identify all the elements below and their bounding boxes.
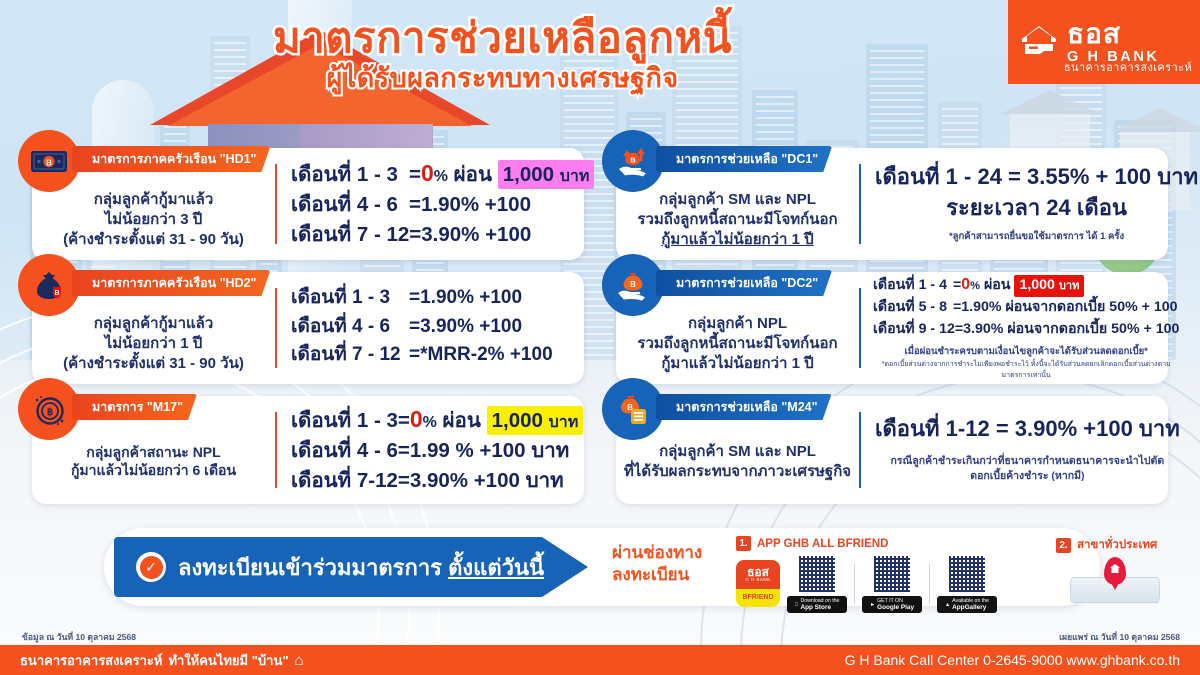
channel-number-2: 2. [1056,538,1071,553]
home-icon: ⌂ [295,652,304,669]
infographic-page: ธอส G H BANK ธนาคารอาคารสงเคราะห์ มาตรกา… [0,0,1200,675]
qr-code-appgallery[interactable] [947,554,987,594]
table-row: เดือนที่ 1 - 3 = 0 % ผ่อน 1,000 บาท [291,403,583,436]
svg-text:B: B [630,280,636,289]
check-circle-icon: ✓ [136,552,166,582]
divider [854,564,855,604]
banknote-icon: B [30,148,68,174]
map-pin-branch-icon [1070,557,1160,603]
hand-money-up-icon: B [615,143,651,179]
card-rate-rows-hd2: เดือนที่ 1 - 3 = 1.90% +100 เดือนที่ 4 -… [291,284,576,370]
measure-card-m17[interactable]: ฿ มาตรการ "M17" กลุ่มลูกค้าสถานะ NPL กู้… [32,396,584,504]
svg-text:฿: ฿ [47,407,53,418]
badge-circle-hd2: B [18,254,80,316]
registration-banner: ✓ ลงทะเบียนเข้าร่วมมาตรการ ตั้งแต่วันนี้… [104,528,1100,606]
badge-circle-m24: B [602,378,664,440]
measure-card-dc2[interactable]: B มาตรการช่วยเหลือ "DC2" กลุ่มลูกค้า NPL… [616,272,1168,384]
hand-money-bag-icon: B [616,268,650,302]
table-row: เดือนที่ 4 - 6 = 1.90% +100 [291,190,594,220]
card-divider [859,412,861,488]
badge-circle-dc1: B [602,130,664,192]
card-divider [859,164,861,244]
table-row: เดือนที่ 7 - 12 = *MRR-2% +100 [291,341,576,370]
googleplay-badge[interactable]: ► GET IT ONGoogle Play [862,596,922,613]
page-footer: ธนาคารอาคารสงเคราะห์ ทำให้คนไทยมี "บ้าน"… [0,645,1200,675]
card-pill-dc2: มาตรการช่วยเหลือ "DC2" [656,270,832,296]
logo-subtitle: ธนาคารอาคารสงเคราะห์ [1064,58,1192,76]
appstore-badge[interactable]:  Download on theApp Store [787,596,847,613]
table-row: เดือนที่ 1 - 3 = 1.90% +100 [291,284,576,313]
ghbank-logo: ธอส G H BANK ธนาคารอาคารสงเคราะห์ [1008,0,1200,84]
card-divider [859,288,861,368]
channel-label: ผ่านช่องทาง ลงทะเบียน [612,542,702,586]
card-pill-m24: มาตรการช่วยเหลือ "M24" [656,394,832,420]
table-row: เดือนที่ 1 - 4 = 0 % ผ่อน 1,000 บาท [873,273,1179,297]
card-note: *ลูกค้าสามารถยื่นขอใช้มาตรการ ได้ 1 ครั้… [875,230,1198,244]
data-as-of-note: ข้อมูล ณ วันที่ 10 ตุลาคม 2568 [22,630,136,644]
card-note: กรณีลูกค้าชำระเกินกว่าที่ธนาคารกำหนดธนาค… [875,454,1180,484]
channel-number-1: 1. [736,536,751,551]
footer-call-center: G H Bank Call Center 0-2645-9000 www.ghb… [845,652,1180,668]
measure-card-dc1[interactable]: B มาตรการช่วยเหลือ "DC1" กลุ่มลูกค้า SM … [616,148,1168,260]
badge-circle-m17: ฿ [18,378,80,440]
card-description-hd2: กลุ่มลูกค้ากู้มาแล้ว ไม่น้อยกว่า 1 ปี (ค… [63,314,244,374]
table-row: เดือนที่ 4 - 6 = 1.99 % +100 บาท [291,436,583,466]
qr-appstore-group[interactable]:  Download on theApp Store [787,554,847,613]
card-divider [275,288,277,368]
table-row: เดือนที่ 9 - 12 = 3.90% ผ่อนจากดอกเบี้ย … [873,319,1179,341]
appgallery-badge[interactable]: ▲ Available on theAppGallery [937,596,997,613]
measure-card-hd1[interactable]: B มาตรการภาคครัวเรือน "HD1" กลุ่มลูกค้าก… [32,148,584,260]
page-title: มาตรการช่วยเหลือลูกหนี้ [0,16,1005,60]
logo-thai-text: ธอส [1067,20,1160,48]
qr-appgallery-group[interactable]: ▲ Available on theAppGallery [937,554,997,613]
table-row: เดือนที่ 7 - 12 = 3.90% +100 [291,220,594,250]
ghb-all-bfriend-app-icon[interactable]: ธอส G H BANK BFRIEND [736,560,780,607]
highlight-chip: 1,000 บาท [498,160,595,190]
card-description-dc1: กลุ่มลูกค้า SM และ NPL รวมถึงลูกหนี้สถาน… [637,190,837,250]
channel-app: 1. APP GHB ALL BFRIEND ธอส G H BANK BFRI… [736,536,1036,613]
register-cta-arrow[interactable]: ✓ ลงทะเบียนเข้าร่วมมาตรการ ตั้งแต่วันนี้ [114,537,588,597]
card-description-dc2: กลุ่มลูกค้า NPL รวมถึงลูกหนี้สถานะมีโจทก… [637,314,837,374]
table-row: เดือนที่ 5 - 8 = 1.90% ผ่อนจากดอกเบี้ย 5… [873,297,1179,319]
measure-card-hd2[interactable]: B มาตรการภาคครัวเรือน "HD2" กลุ่มลูกค้าก… [32,272,584,384]
channel-title-1: APP GHB ALL BFRIEND [757,538,888,550]
svg-text:B: B [630,156,636,165]
card-pill-hd2: มาตรการภาคครัวเรือน "HD2" [72,270,270,296]
card-pill-m17: มาตรการ "M17" [72,394,197,420]
card-rate-rows-hd1: เดือนที่ 1 - 3 = 0 % ผ่อน 1,000 บาท เดือ… [291,157,594,250]
table-row: เดือนที่ 1 - 3 = 0 % ผ่อน 1,000 บาท [291,157,594,190]
card-rate-lines-dc1: เดือนที่ 1 - 24 = 3.55% + 100 บาท ระยะเว… [875,162,1198,244]
table-row: เดือนที่ 7-12 = 3.90% +100 บาท [291,466,583,496]
table-row: เดือนที่ 4 - 6 = 3.90% +100 [291,313,576,342]
google-play-icon: ► [870,602,875,608]
badge-circle-hd1: B [18,130,80,192]
money-bag-shield-icon: B [32,268,66,302]
page-subtitle: ผู้ได้รับผลกระทบทางเศรษฐกิจ [0,64,1005,94]
svg-text:B: B [54,290,59,297]
money-bag-book-icon: B [616,392,650,426]
card-description-m24: กลุ่มลูกค้า SM และ NPL ที่ได้รับผลกระทบจ… [624,442,851,482]
footer-tagline: ธนาคารอาคารสงเคราะห์ ทำให้คนไทยมี "บ้าน"… [20,650,304,671]
coins-icon: ฿ [31,392,67,426]
divider [929,564,930,604]
card-description-m17: กลุ่มลูกค้าสถานะ NPL กู้มาแล้วไม่น้อยกว่… [71,443,236,480]
card-rate-lines-m24: เดือนที่ 1-12 = 3.90% +100 บาท กรณีลูกค้… [875,414,1180,484]
qr-code-googleplay[interactable] [872,554,912,594]
header-titles: มาตรการช่วยเหลือลูกหนี้ ผู้ได้รับผลกระทบ… [0,16,1005,93]
card-note: เมื่อผ่อนชำระครบตามเงื่อนไขลูกค้าจะได้รั… [873,345,1179,359]
card-divider [275,412,277,488]
badge-circle-dc2: B [602,254,664,316]
card-rate-rows-dc2: เดือนที่ 1 - 4 = 0 % ผ่อน 1,000 บาท เดือ… [873,273,1179,380]
register-cta-text: ลงทะเบียนเข้าร่วมมาตรการ ตั้งแต่วันนี้ [178,550,544,585]
measure-card-m24[interactable]: B มาตรการช่วยเหลือ "M24" กลุ่มลูกค้า SM … [616,396,1168,504]
card-divider [275,164,277,244]
qr-code-appstore[interactable] [797,554,837,594]
highlight-chip: 1,000 บาท [487,406,584,436]
channel-title-2: สาขาทั่วประเทศ [1077,536,1157,554]
appgallery-icon: ▲ [945,602,950,608]
card-pill-dc1: มาตรการช่วยเหลือ "DC1" [656,146,832,172]
card-rate-rows-m17: เดือนที่ 1 - 3 = 0 % ผ่อน 1,000 บาท เดือ… [291,403,583,496]
highlight-chip: 1,000 บาท [1014,275,1084,297]
card-description-hd1: กลุ่มลูกค้ากู้มาแล้ว ไม่น้อยกว่า 3 ปี (ค… [63,190,244,250]
card-pill-hd1: มาตรการภาคครัวเรือน "HD1" [72,146,270,172]
ghbank-house-mark [1018,22,1060,62]
svg-text:B: B [46,158,52,167]
apple-icon:  [795,602,799,608]
qr-googleplay-group[interactable]: ► GET IT ONGoogle Play [862,554,922,613]
published-note: เผยแพร่ ณ วันที่ 10 ตุลาคม 2568 [1059,630,1180,644]
channel-branch: 2. สาขาทั่วประเทศ [1056,536,1186,603]
card-note-fine: *ดอกเบี้ยส่วนต่างจากการชำระไม่เพียงพอชำร… [873,360,1179,380]
